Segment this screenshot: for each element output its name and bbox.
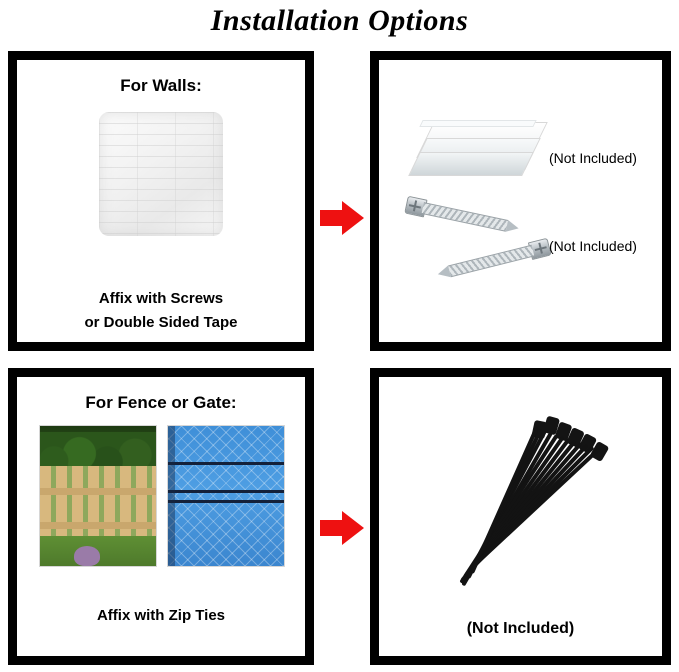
white-brick-wall-swatch [99,112,223,236]
screw-tip [506,220,520,234]
fence-wire [168,490,284,493]
wooden-picket-fence-photo [39,425,157,567]
chain-link-mesh [168,426,284,566]
fence-rail [40,522,156,529]
tape-top-edge [419,120,536,127]
panel-for-walls-heading: For Walls: [17,76,305,96]
screw-shank [448,245,534,277]
wood-screw-image [405,196,526,237]
fence-rail [40,488,156,495]
zip-ties-not-included-label: (Not Included) [379,620,662,638]
screw-tip [436,266,451,281]
screw-shank [421,202,508,232]
panel-for-walls-caption-line2: or Double Sided Tape [17,312,305,334]
arrow-shaft [320,210,344,226]
red-arrow-right-icon-bottom [320,511,364,545]
panel-wall-hardware: (Not Included) (Not Included) [370,51,671,351]
red-arrow-right-icon-top [320,201,364,235]
arrow-head [342,511,364,545]
tape-strip [408,152,534,176]
screws-not-included-label: (Not Included) [549,237,637,255]
arrow-head [342,201,364,235]
panel-for-walls-caption-line1: Affix with Screws [17,288,305,310]
installation-options-grid: For Walls: Affix with Screws or Double S… [0,46,679,672]
page-title: Installation Options [0,4,679,38]
fence-wire [168,500,284,503]
panel-for-fence-caption: Affix with Zip Ties [17,605,305,627]
chain-link-fence-photo [167,425,285,567]
wood-screw-image [431,238,551,283]
panel-zip-ties: (Not Included) [370,368,671,665]
panel-for-fence-heading: For Fence or Gate: [17,393,305,413]
fence-wire [168,462,284,465]
fence-post [168,426,175,566]
black-zip-ties-bundle [393,419,643,609]
panel-for-walls: For Walls: Affix with Screws or Double S… [8,51,314,351]
tape-not-included-label: (Not Included) [549,149,637,167]
panel-for-fence-or-gate: For Fence or Gate: Affix with Zip Ties [8,368,314,665]
double-sided-tape-image [415,112,547,184]
arrow-shaft [320,520,344,536]
foreground-object [74,546,100,566]
